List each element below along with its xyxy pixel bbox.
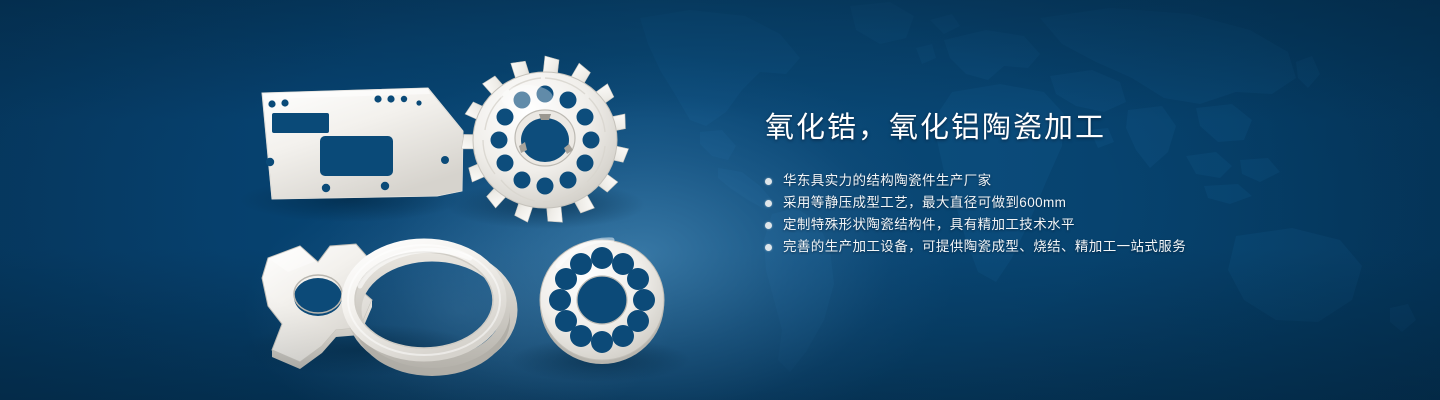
feature-text: 定制特殊形状陶瓷结构件，具有精加工技术水平 [783,214,1075,236]
hero-banner: 氧化锆，氧化铝陶瓷加工 华东具实力的结构陶瓷件生产厂家 采用等静压成型工艺，最大… [0,0,1440,400]
banner-headline: 氧化锆，氧化铝陶瓷加工 [765,108,1405,148]
product-photo-cluster [0,0,740,400]
feature-text: 完善的生产加工设备，可提供陶瓷成型、烧结、精加工一站式服务 [783,236,1186,258]
ceramic-perforated-disc-part [540,240,664,364]
banner-copy: 氧化锆，氧化铝陶瓷加工 华东具实力的结构陶瓷件生产厂家 采用等静压成型工艺，最大… [765,108,1405,258]
feature-list: 华东具实力的结构陶瓷件生产厂家 采用等静压成型工艺，最大直径可做到600mm 定… [765,170,1405,258]
bullet-dot-icon [765,222,772,229]
list-item: 采用等静压成型工艺，最大直径可做到600mm [765,192,1405,214]
feature-text: 华东具实力的结构陶瓷件生产厂家 [783,170,992,192]
feature-text: 采用等静压成型工艺，最大直径可做到600mm [783,192,1066,214]
list-item: 华东具实力的结构陶瓷件生产厂家 [765,170,1405,192]
list-item: 定制特殊形状陶瓷结构件，具有精加工技术水平 [765,214,1405,236]
bullet-dot-icon [765,200,772,207]
ceramic-plate-part [262,88,463,199]
bullet-dot-icon [765,244,772,251]
list-item: 完善的生产加工设备，可提供陶瓷成型、烧结、精加工一站式服务 [765,236,1405,258]
bullet-dot-icon [765,178,772,185]
